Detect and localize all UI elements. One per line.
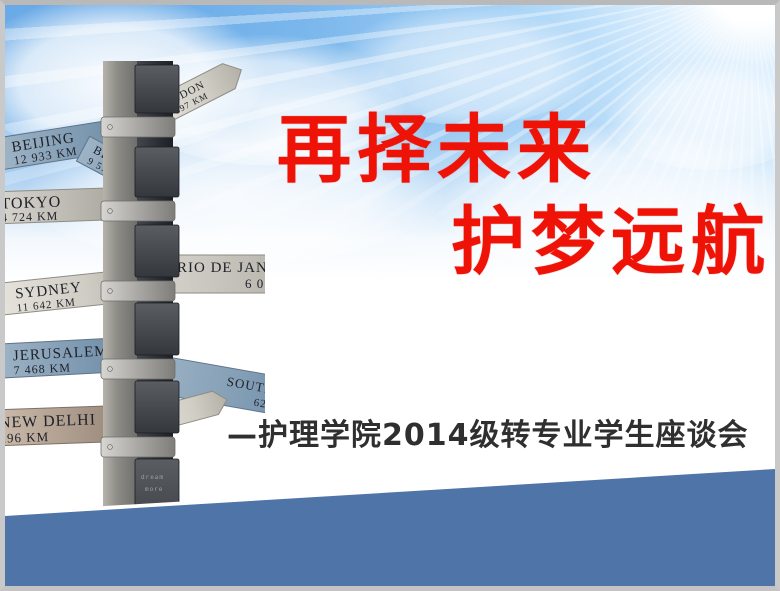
svg-text:7 468 KM: 7 468 KM <box>13 360 71 377</box>
footer-band <box>5 466 775 586</box>
svg-text:RIO DE JANEIRO: RIO DE JANEIRO <box>177 260 265 276</box>
svg-text:6 055 KM: 6 055 KM <box>245 276 265 291</box>
presentation-slide: BEIJING 12 933 KM LONDON 18 897 KM BERLI… <box>0 0 780 591</box>
svg-text:296 KM: 296 KM <box>5 429 49 446</box>
svg-text:NEW DELHI: NEW DELHI <box>5 411 96 431</box>
subtitle-text: —护理学院2014级转专业学生座谈会 <box>227 410 775 454</box>
svg-text:4 724 KM: 4 724 KM <box>5 209 59 225</box>
slide-canvas: BEIJING 12 933 KM LONDON 18 897 KM BERLI… <box>5 5 775 586</box>
